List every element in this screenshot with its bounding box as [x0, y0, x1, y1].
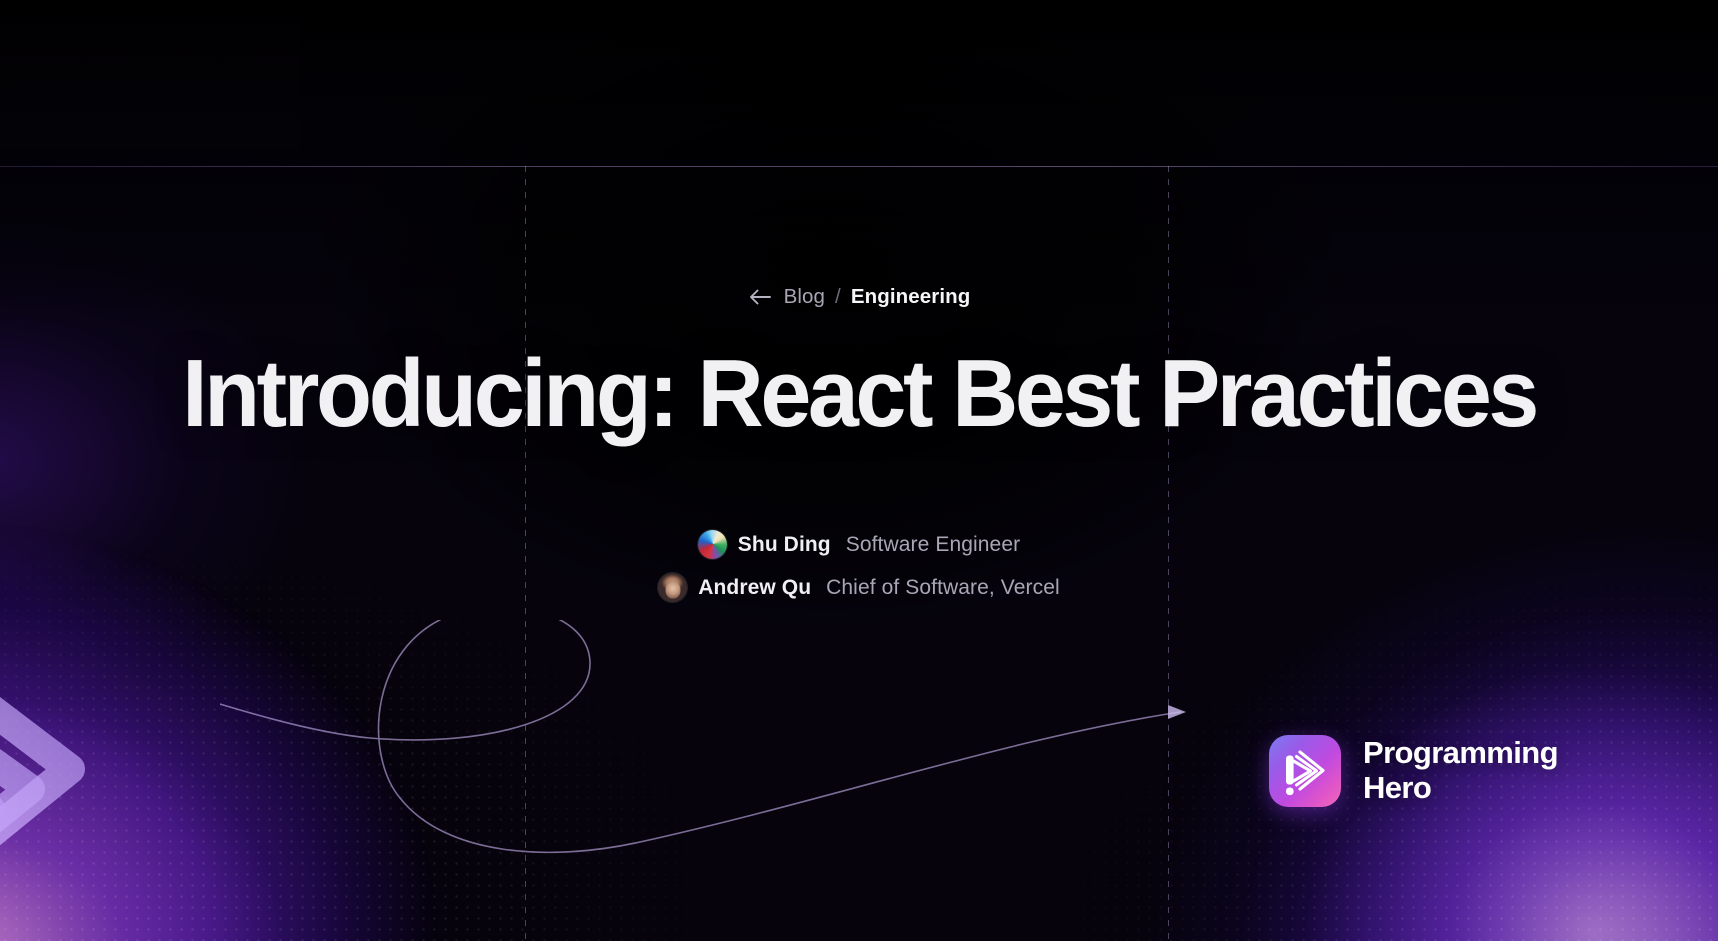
- breadcrumb: Blog / Engineering: [0, 285, 1718, 309]
- blog-hero-page: Blog / Engineering Introducing: React Be…: [0, 0, 1718, 941]
- page-title: Introducing: React Best Practices: [39, 346, 1680, 442]
- avatar: [698, 530, 727, 559]
- author-row: Shu Ding Software Engineer: [698, 530, 1020, 559]
- breadcrumb-separator: /: [835, 285, 841, 309]
- brand-name: Programming Hero: [1363, 736, 1558, 805]
- author-role: Chief of Software, Vercel: [826, 576, 1060, 600]
- author-row: Andrew Qu Chief of Software, Vercel: [658, 573, 1060, 602]
- avatar: [658, 573, 687, 602]
- author-name: Shu Ding: [738, 533, 831, 557]
- brand-logo: Programming Hero: [1269, 735, 1558, 807]
- hero-content: Blog / Engineering Introducing: React Be…: [0, 0, 1718, 941]
- author-role: Software Engineer: [846, 533, 1020, 557]
- brand-name-line2: Hero: [1363, 771, 1558, 806]
- brand-name-line1: Programming: [1363, 736, 1558, 771]
- arrow-left-icon[interactable]: [748, 288, 772, 306]
- breadcrumb-current[interactable]: Engineering: [851, 285, 971, 309]
- programming-hero-logo-icon: [1269, 735, 1341, 807]
- breadcrumb-parent-link[interactable]: Blog: [784, 285, 825, 309]
- author-name: Andrew Qu: [698, 576, 811, 600]
- author-list: Shu Ding Software Engineer Andrew Qu Chi…: [0, 530, 1718, 602]
